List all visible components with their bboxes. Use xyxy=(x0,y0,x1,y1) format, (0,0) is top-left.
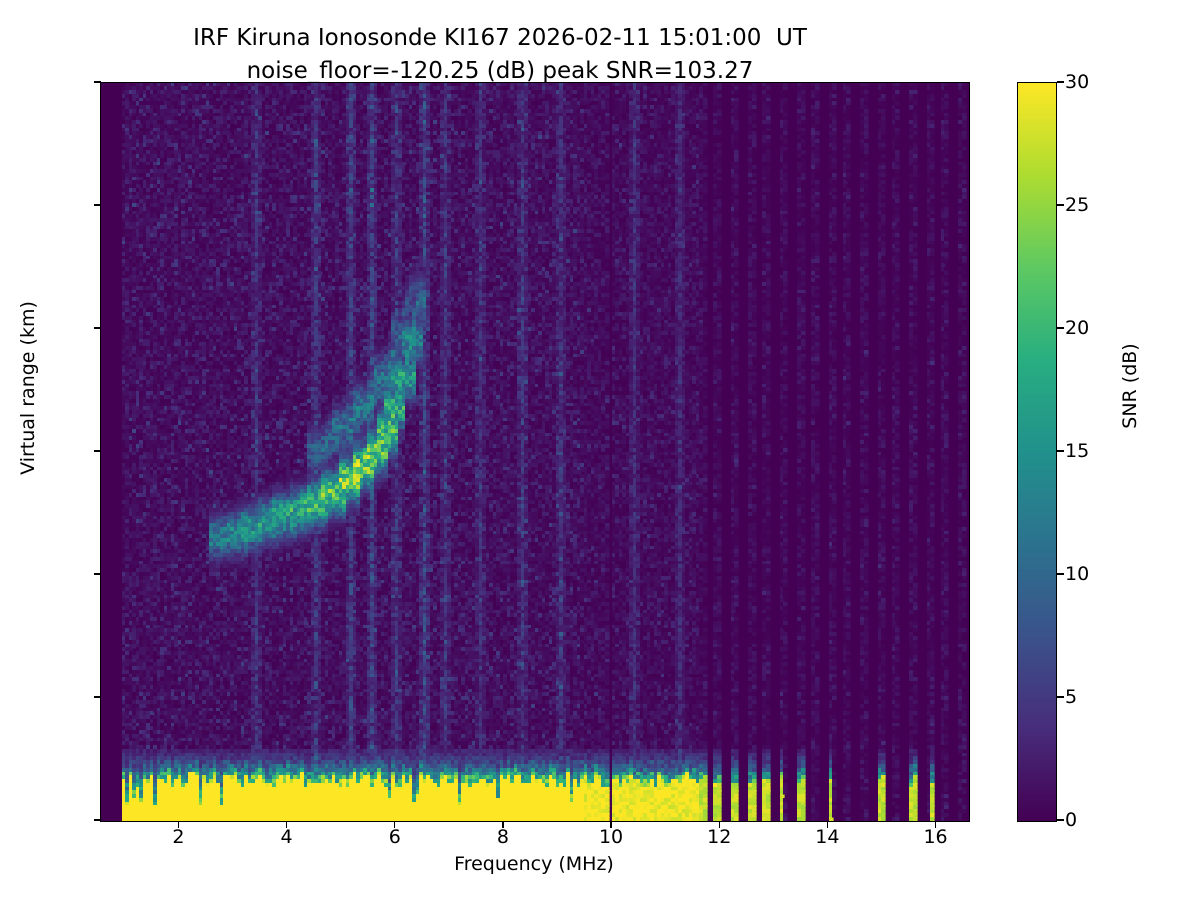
x-tick-label: 14 xyxy=(815,826,839,848)
y-tick-mark xyxy=(94,204,101,205)
x-tick-mark xyxy=(286,821,287,828)
x-tick-mark xyxy=(394,821,395,828)
colorbar-tick-label: 5 xyxy=(1065,686,1077,708)
colorbar-tick-label: 10 xyxy=(1065,563,1089,585)
x-tick-label: 8 xyxy=(497,826,509,848)
colorbar-label: SNR (dB) xyxy=(1119,266,1141,506)
x-tick-mark xyxy=(178,821,179,828)
ionogram-heatmap-canvas[interactable] xyxy=(101,83,969,821)
colorbar-tick-mark xyxy=(1057,819,1064,820)
x-tick-label: 4 xyxy=(281,826,293,848)
colorbar-tick-label: 20 xyxy=(1065,317,1089,339)
x-tick-mark xyxy=(502,821,503,828)
x-tick-mark xyxy=(935,821,936,828)
colorbar-tick-label: 15 xyxy=(1065,440,1089,462)
title-line-1: IRF Kiruna Ionosonde KI167 2026-02-11 15… xyxy=(0,22,1000,55)
x-tick-label: 12 xyxy=(707,826,731,848)
colorbar-tick-mark xyxy=(1057,327,1064,328)
colorbar-tick-label: 30 xyxy=(1065,71,1089,93)
x-axis-label: Frequency (MHz) xyxy=(100,853,968,875)
x-tick-label: 6 xyxy=(389,826,401,848)
colorbar-tick-label: 0 xyxy=(1065,809,1077,831)
colorbar-gradient xyxy=(1018,83,1056,821)
x-tick-mark xyxy=(610,821,611,828)
y-tick-mark xyxy=(94,450,101,451)
ionogram-figure: IRF Kiruna Ionosonde KI167 2026-02-11 15… xyxy=(0,0,1200,900)
x-tick-label: 10 xyxy=(599,826,623,848)
y-tick-mark xyxy=(94,327,101,328)
y-tick-mark xyxy=(94,819,101,820)
y-tick-mark xyxy=(94,696,101,697)
ionogram-plot-area[interactable] xyxy=(100,82,970,822)
colorbar-tick-label: 25 xyxy=(1065,194,1089,216)
colorbar[interactable] xyxy=(1017,82,1057,822)
x-tick-mark xyxy=(719,821,720,828)
y-tick-mark xyxy=(94,81,101,82)
colorbar-tick-mark xyxy=(1057,573,1064,574)
colorbar-tick-mark xyxy=(1057,81,1064,82)
x-tick-label: 2 xyxy=(172,826,184,848)
colorbar-tick-mark xyxy=(1057,450,1064,451)
colorbar-tick-mark xyxy=(1057,204,1064,205)
x-tick-label: 16 xyxy=(923,826,947,848)
colorbar-tick-mark xyxy=(1057,696,1064,697)
x-tick-mark xyxy=(827,821,828,828)
figure-title: IRF Kiruna Ionosonde KI167 2026-02-11 15… xyxy=(0,22,1000,87)
y-axis-label: Virtual range (km) xyxy=(17,268,39,508)
y-tick-mark xyxy=(94,573,101,574)
